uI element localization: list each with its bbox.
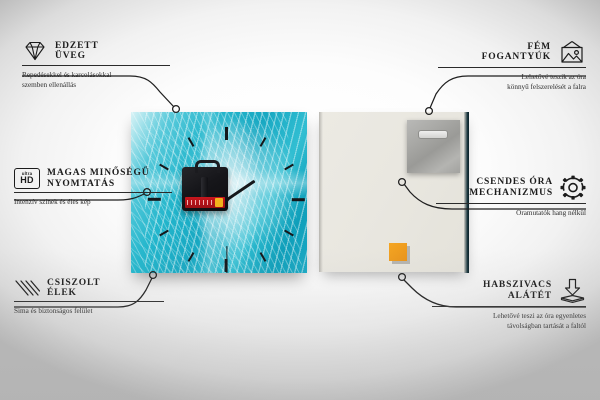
clock-tick [284, 229, 294, 236]
callout-title-line-1: EDZETT [55, 41, 99, 51]
callout-titles: CSISZOLT ÉLEK [47, 278, 100, 298]
callout-header: HABSZIVACS ALÁTÉT [432, 278, 586, 303]
back-panel-edge [319, 112, 323, 272]
callout-title-line-1: HABSZIVACS [483, 280, 552, 290]
callout-description-line-1: Lehetővé teszik az óra [438, 72, 586, 82]
clock-tick [259, 137, 266, 147]
infographic-canvas: EDZETT ÜVEG Repedésekkel és karcolásokka… [0, 0, 600, 400]
clock-mechanism [182, 167, 228, 211]
callout-titles: EDZETT ÜVEG [55, 41, 99, 61]
clock-tick [159, 229, 169, 236]
callout-description-line-2: könnyű felszerelését a falra [438, 82, 586, 92]
callout-tempered-glass[interactable]: EDZETT ÜVEG Repedésekkel és karcolásokka… [22, 40, 170, 90]
callout-description-line-1: Óramutatók hang nélkül [436, 208, 586, 218]
mechanism-shaft [201, 177, 208, 199]
callout-title-line-2: NYOMTATÁS [47, 179, 115, 189]
picture-hanger-icon [558, 40, 586, 64]
label-ticks [187, 200, 213, 205]
callout-description-line-2: távolságban tartását a faltól [432, 321, 586, 331]
product-assembly [131, 112, 469, 274]
callout-titles: MAGAS MINŐSÉGŰ NYOMTATÁS [47, 168, 149, 188]
hanger-slot [418, 130, 448, 139]
diamond-icon [22, 40, 48, 62]
clock-hand-second [226, 246, 227, 273]
ultra-hd-icon: ultra HD [14, 168, 40, 189]
gear-icon [560, 175, 586, 200]
callout-rule [14, 192, 172, 193]
callout-title-line-1: CSISZOLT [47, 278, 100, 288]
callout-header: FÉM FOGANTYÚK [438, 40, 586, 64]
callout-description-line-2: szemben ellenállás [22, 80, 170, 90]
callout-title-line-2: MECHANIZMUS [469, 188, 553, 198]
callout-titles: HABSZIVACS ALÁTÉT [483, 280, 552, 300]
callout-title-line-1: MAGAS MINŐSÉGŰ [47, 168, 149, 178]
callout-rule [22, 65, 170, 66]
mechanism-battery-label [185, 197, 225, 208]
foam-spacer-pad [389, 243, 407, 261]
callout-polished-edges[interactable]: CSISZOLT ÉLEK Sima és biztonságos felüle… [14, 278, 164, 316]
callout-description-line-1: Intenzív színek és éles kép [14, 197, 172, 207]
callout-silent-mechanism[interactable]: CSENDES ÓRA MECHANIZMUS [436, 175, 586, 218]
clock-tick [187, 137, 194, 147]
clock-hand-minute [226, 180, 256, 201]
callout-header: CSISZOLT ÉLEK [14, 278, 164, 298]
metal-hanger-plate [407, 120, 460, 173]
callout-rule [14, 301, 164, 302]
callout-title-line-2: FOGANTYÚK [482, 52, 551, 62]
polished-edges-icon [14, 278, 40, 298]
clock-tick [284, 163, 294, 170]
callout-high-quality-print[interactable]: ultra HD MAGAS MINŐSÉGŰ NYOMTATÁS Intenz… [14, 168, 172, 207]
ultra-hd-icon-main-text: HD [20, 176, 34, 185]
clock-tick [187, 252, 194, 262]
clock-tick [225, 127, 228, 140]
callout-title-line-2: ALÁTÉT [508, 291, 552, 301]
callout-description-line-1: Lehetővé teszi az óra egyenletes [432, 311, 586, 321]
callout-title-line-1: FÉM [527, 42, 551, 52]
battery-plus-marker [215, 198, 223, 207]
callout-title-line-2: ÉLEK [47, 288, 77, 298]
callout-foam-pad[interactable]: HABSZIVACS ALÁTÉT Lehetővé teszi az óra … [432, 278, 586, 331]
callout-description-line-1: Repedésekkel és karcolásokkal [22, 70, 170, 80]
foam-pad-arrow-icon [559, 278, 586, 303]
callout-header: ultra HD MAGAS MINŐSÉGŰ NYOMTATÁS [14, 168, 172, 189]
callout-rule [432, 306, 586, 307]
clock-tick [259, 252, 266, 262]
callout-title-line-2: ÜVEG [55, 51, 86, 61]
callout-header: CSENDES ÓRA MECHANIZMUS [436, 175, 586, 200]
callout-description-line-1: Sima és biztonságos felület [14, 306, 164, 316]
callout-rule [438, 67, 586, 68]
callout-title-line-1: CSENDES ÓRA [476, 177, 553, 187]
callout-titles: FÉM FOGANTYÚK [482, 42, 551, 62]
callout-titles: CSENDES ÓRA MECHANIZMUS [469, 177, 553, 197]
clock-tick [292, 198, 305, 201]
callout-metal-handles[interactable]: FÉM FOGANTYÚK Lehetővé teszik az óra kön… [438, 40, 586, 92]
callout-header: EDZETT ÜVEG [22, 40, 170, 62]
callout-rule [436, 203, 586, 204]
mechanism-hook [195, 160, 220, 173]
